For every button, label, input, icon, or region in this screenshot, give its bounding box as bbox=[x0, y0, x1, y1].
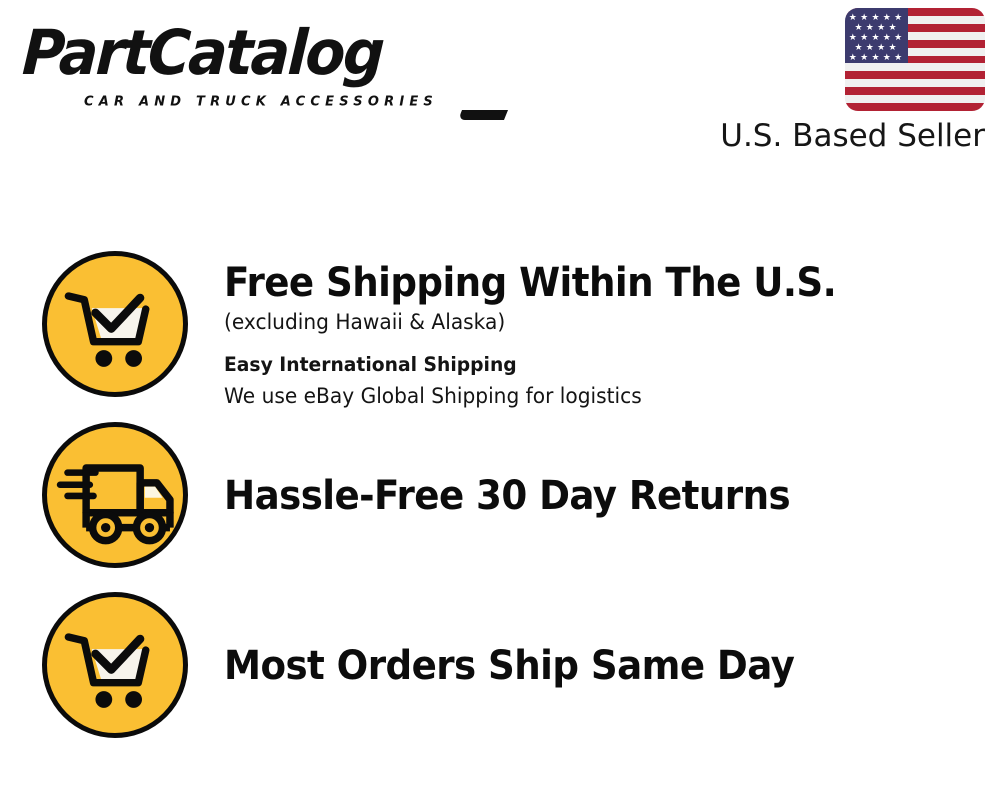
feature-headline: Hassle-Free 30 Day Returns bbox=[224, 473, 920, 519]
promo-banner: PartCatalog CAR AND TRUCK ACCESSORIES ★ … bbox=[0, 0, 1000, 800]
feature-headline: Most Orders Ship Same Day bbox=[224, 643, 920, 689]
feature-subtitle: Easy International Shipping bbox=[224, 350, 942, 380]
feature-subdetail: We use eBay Global Shipping for logistic… bbox=[224, 380, 942, 412]
us-based-seller-badge: ★ ★ ★ ★ ★ ★ ★ ★ ★ ★ ★ ★ ★ ★ ★ ★ ★ ★ ★ ★ bbox=[715, 8, 985, 154]
feature-headline: Free Shipping Within The U.S. bbox=[224, 260, 920, 306]
logo-tagline: CAR AND TRUCK ACCESSORIES bbox=[84, 94, 438, 110]
feature-subnote: (excluding Hawaii & Alaska) bbox=[224, 306, 942, 338]
shopping-cart-check-icon bbox=[42, 592, 188, 738]
feature-text-block: Free Shipping Within The U.S. (excluding… bbox=[188, 251, 972, 412]
feature-row: Most Orders Ship Same Day bbox=[42, 592, 972, 738]
us-based-seller-label: U.S. Based Seller bbox=[715, 118, 985, 154]
feature-text-block: Most Orders Ship Same Day bbox=[188, 592, 972, 689]
feature-text-block: Hassle-Free 30 Day Returns bbox=[188, 422, 972, 519]
feature-row: Hassle-Free 30 Day Returns bbox=[42, 422, 972, 568]
delivery-truck-icon bbox=[42, 422, 188, 568]
feature-row: Free Shipping Within The U.S. (excluding… bbox=[42, 251, 972, 412]
logo-wordmark: PartCatalog bbox=[21, 22, 384, 84]
flag-canton: ★ ★ ★ ★ ★ ★ ★ ★ ★ ★ ★ ★ ★ ★ ★ ★ ★ ★ ★ ★ bbox=[845, 8, 908, 63]
us-flag-icon: ★ ★ ★ ★ ★ ★ ★ ★ ★ ★ ★ ★ ★ ★ ★ ★ ★ ★ ★ ★ bbox=[845, 8, 985, 111]
logo-swoosh-accent bbox=[458, 110, 508, 120]
brand-logo[interactable]: PartCatalog CAR AND TRUCK ACCESSORIES bbox=[24, 22, 494, 117]
shopping-cart-check-icon bbox=[42, 251, 188, 397]
